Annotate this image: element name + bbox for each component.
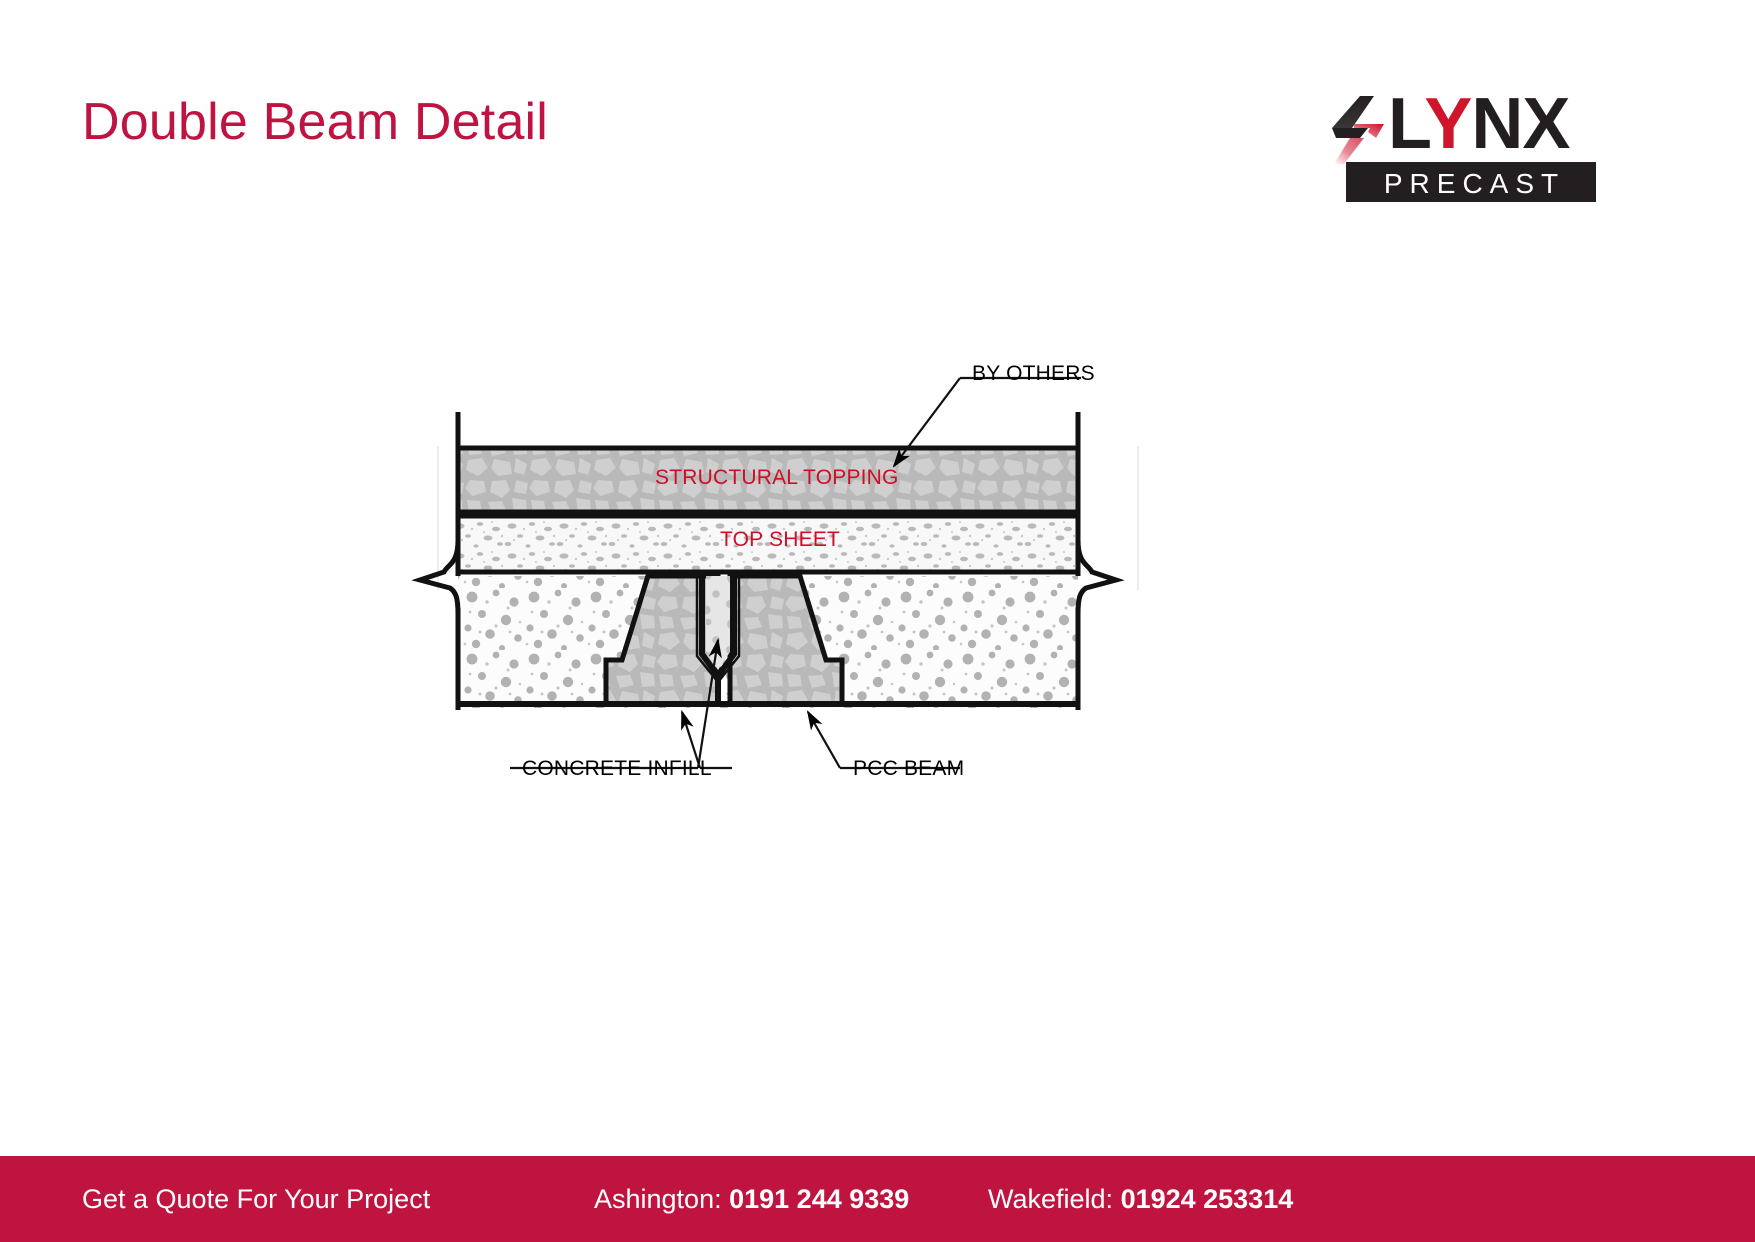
- break-line-right: [1078, 412, 1116, 710]
- logo-letter-y: Y: [1424, 84, 1471, 164]
- footer-contact-bar: Get a Quote For Your Project Ashington: …: [0, 1156, 1755, 1242]
- label-concrete-infill: CONCRETE INFILL: [522, 757, 712, 781]
- label-top-sheet: TOP SHEET: [720, 528, 840, 552]
- lynx-arrow-icon: [1330, 94, 1392, 166]
- footer-cta-text: Get a Quote For Your Project: [82, 1184, 430, 1215]
- lynx-precast-logo: LYNX PRECAST: [1330, 88, 1600, 213]
- break-line-left: [420, 412, 458, 710]
- logo-letter-l: L: [1388, 84, 1424, 164]
- logo-letters-nx: NX: [1471, 84, 1569, 164]
- label-by-others: BY OTHERS: [972, 362, 1095, 386]
- logo-subtitle: PRECAST: [1346, 168, 1596, 200]
- footer-office-ashington-label: Ashington:: [594, 1184, 722, 1214]
- page-title: Double Beam Detail: [82, 92, 548, 152]
- label-structural-topping: STRUCTURAL TOPPING: [655, 466, 899, 490]
- footer-office-wakefield-phone[interactable]: 01924 253314: [1121, 1184, 1294, 1214]
- logo-wordmark: LYNX: [1388, 88, 1569, 160]
- footer-office-wakefield: Wakefield: 01924 253314: [988, 1184, 1293, 1215]
- footer-office-ashington: Ashington: 0191 244 9339: [594, 1184, 909, 1215]
- drawing-svg: [400, 340, 1200, 820]
- slide-page: Double Beam Detail: [0, 0, 1755, 1242]
- footer-office-wakefield-label: Wakefield:: [988, 1184, 1113, 1214]
- logo-subtitle-bar: PRECAST: [1346, 162, 1596, 202]
- label-pcc-beam: PCC BEAM: [853, 757, 964, 781]
- footer-office-ashington-phone[interactable]: 0191 244 9339: [729, 1184, 909, 1214]
- double-beam-detail-drawing: [400, 340, 1200, 820]
